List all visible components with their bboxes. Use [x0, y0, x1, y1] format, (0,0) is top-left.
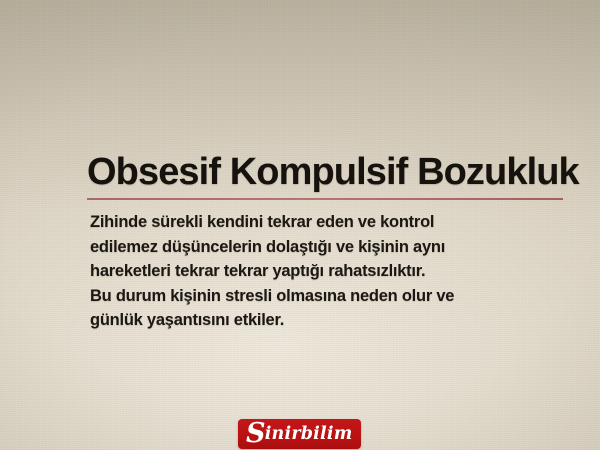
- title-divider: [87, 198, 563, 200]
- description-line: edilemez düşüncelerin dolaştığı ve kişin…: [90, 235, 565, 260]
- panel-content: Obsesif Kompulsif Bozukluk Zihinde sürek…: [87, 150, 565, 333]
- page-title: Obsesif Kompulsif Bozukluk: [87, 150, 565, 194]
- logo-wordmark: Sinirbilim: [246, 419, 352, 449]
- exhibit-panel: Obsesif Kompulsif Bozukluk Zihinde sürek…: [0, 0, 600, 450]
- description-line: Bu durum kişinin stresli olmasına neden …: [90, 284, 565, 309]
- description-line: günlük yaşantısını etkiler.: [90, 308, 565, 333]
- logo-rest: inirbilim: [265, 424, 353, 444]
- sinirbilim-logo: Sinirbilim: [238, 419, 361, 449]
- description-line: hareketleri tekrar tekrar yaptığı rahats…: [90, 259, 565, 284]
- logo-initial: S: [246, 420, 266, 447]
- description-line: Zihinde sürekli kendini tekrar eden ve k…: [90, 210, 565, 235]
- description-text: Zihinde sürekli kendini tekrar eden ve k…: [90, 210, 565, 333]
